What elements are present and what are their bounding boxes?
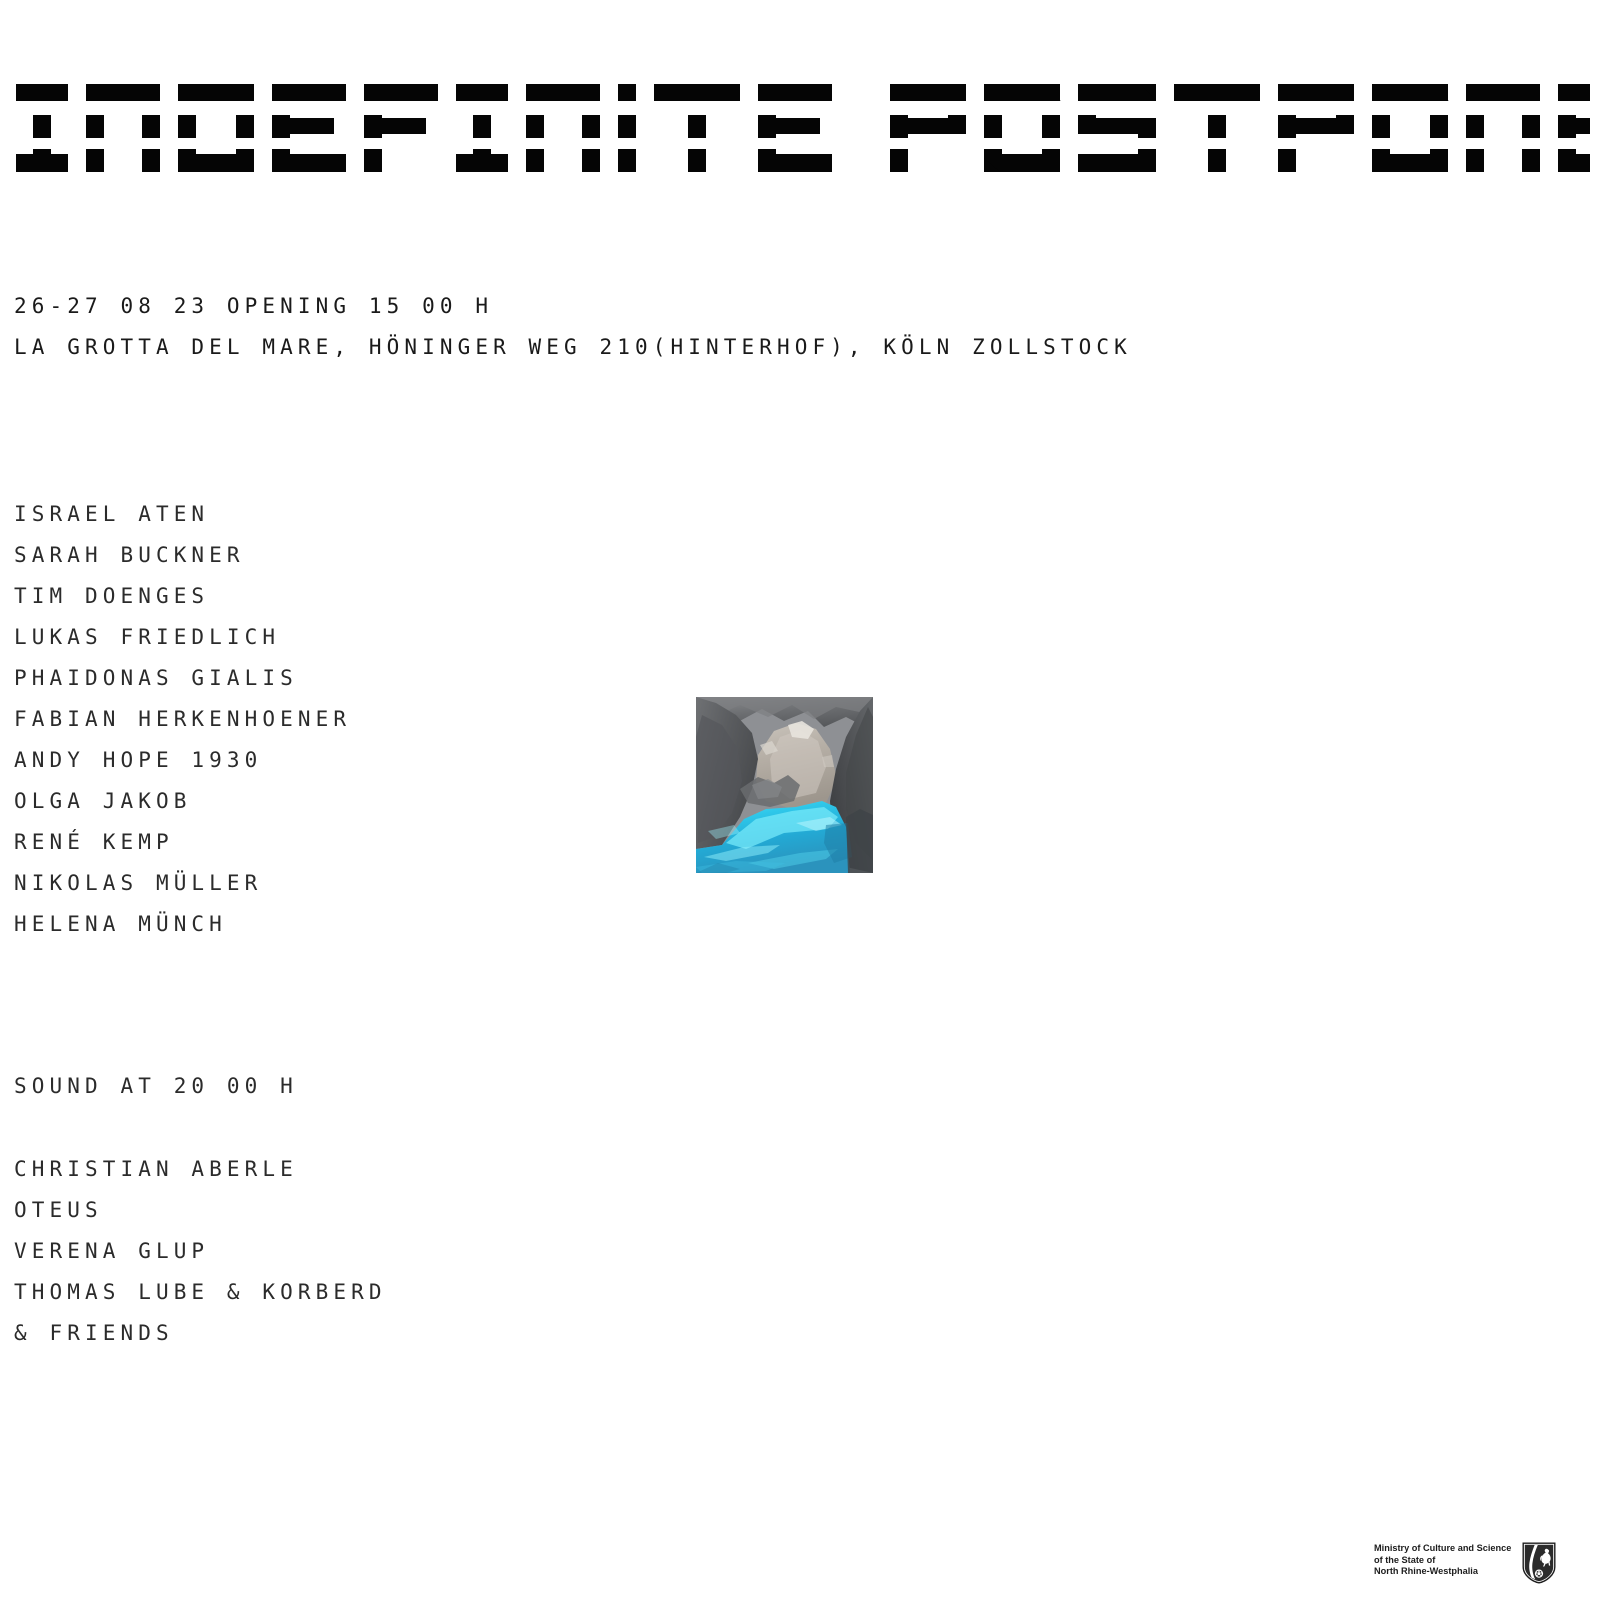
list-item: LUKAS FRIEDLICH: [14, 617, 654, 658]
list-item: ANDY HOPE 1930: [14, 740, 654, 781]
list-item: NIKOLAS MÜLLER: [14, 863, 654, 904]
sound-section-heading: SOUND AT 20 00 H: [14, 1066, 298, 1107]
north-rhine-westphalia-coat-of-arms-icon: [1522, 1542, 1556, 1584]
sea-grotto-photo: [696, 697, 873, 873]
list-item: SARAH BUCKNER: [14, 535, 654, 576]
sound-act-list: CHRISTIAN ABERLE OTEUS VERENA GLUP THOMA…: [14, 1149, 714, 1354]
funder-logo-text: Ministry of Culture and Science of the S…: [1374, 1542, 1511, 1578]
list-item: RENÉ KEMP: [14, 822, 654, 863]
list-item: VERENA GLUP: [14, 1231, 714, 1272]
crest-shield-icon: [1522, 1542, 1556, 1584]
list-item: FABIAN HERKENHOENER: [14, 699, 654, 740]
funder-text-line-2: of the State of: [1374, 1555, 1511, 1567]
list-item: OLGA JAKOB: [14, 781, 654, 822]
artist-list: ISRAEL ATEN SARAH BUCKNER TIM DOENGES LU…: [14, 494, 654, 945]
list-item: OTEUS: [14, 1190, 714, 1231]
poster-title-lettering: [10, 78, 1590, 183]
funder-text-line-3: North Rhine-Westphalia: [1374, 1566, 1511, 1578]
event-meta: 26-27 08 23 OPENING 15 00 H LA GROTTA DE…: [14, 286, 1514, 368]
event-location-line: LA GROTTA DEL MARE, HÖNINGER WEG 210(HIN…: [14, 327, 1514, 368]
event-dates-line: 26-27 08 23 OPENING 15 00 H: [14, 286, 1514, 327]
list-item: HELENA MÜNCH: [14, 904, 654, 945]
sea-grotto-illustration: [696, 697, 873, 873]
list-item: CHRISTIAN ABERLE: [14, 1149, 714, 1190]
funder-text-line-1: Ministry of Culture and Science: [1374, 1543, 1511, 1555]
list-item: THOMAS LUBE & KORBERD: [14, 1272, 714, 1313]
funder-logo: Ministry of Culture and Science of the S…: [1374, 1542, 1586, 1590]
page-title: [10, 78, 1590, 183]
list-item: ISRAEL ATEN: [14, 494, 654, 535]
sound-section-heading-wrap: SOUND AT 20 00 H: [14, 1066, 298, 1107]
list-item: PHAIDONAS GIALIS: [14, 658, 654, 699]
list-item: & FRIENDS: [14, 1313, 714, 1354]
list-item: TIM DOENGES: [14, 576, 654, 617]
